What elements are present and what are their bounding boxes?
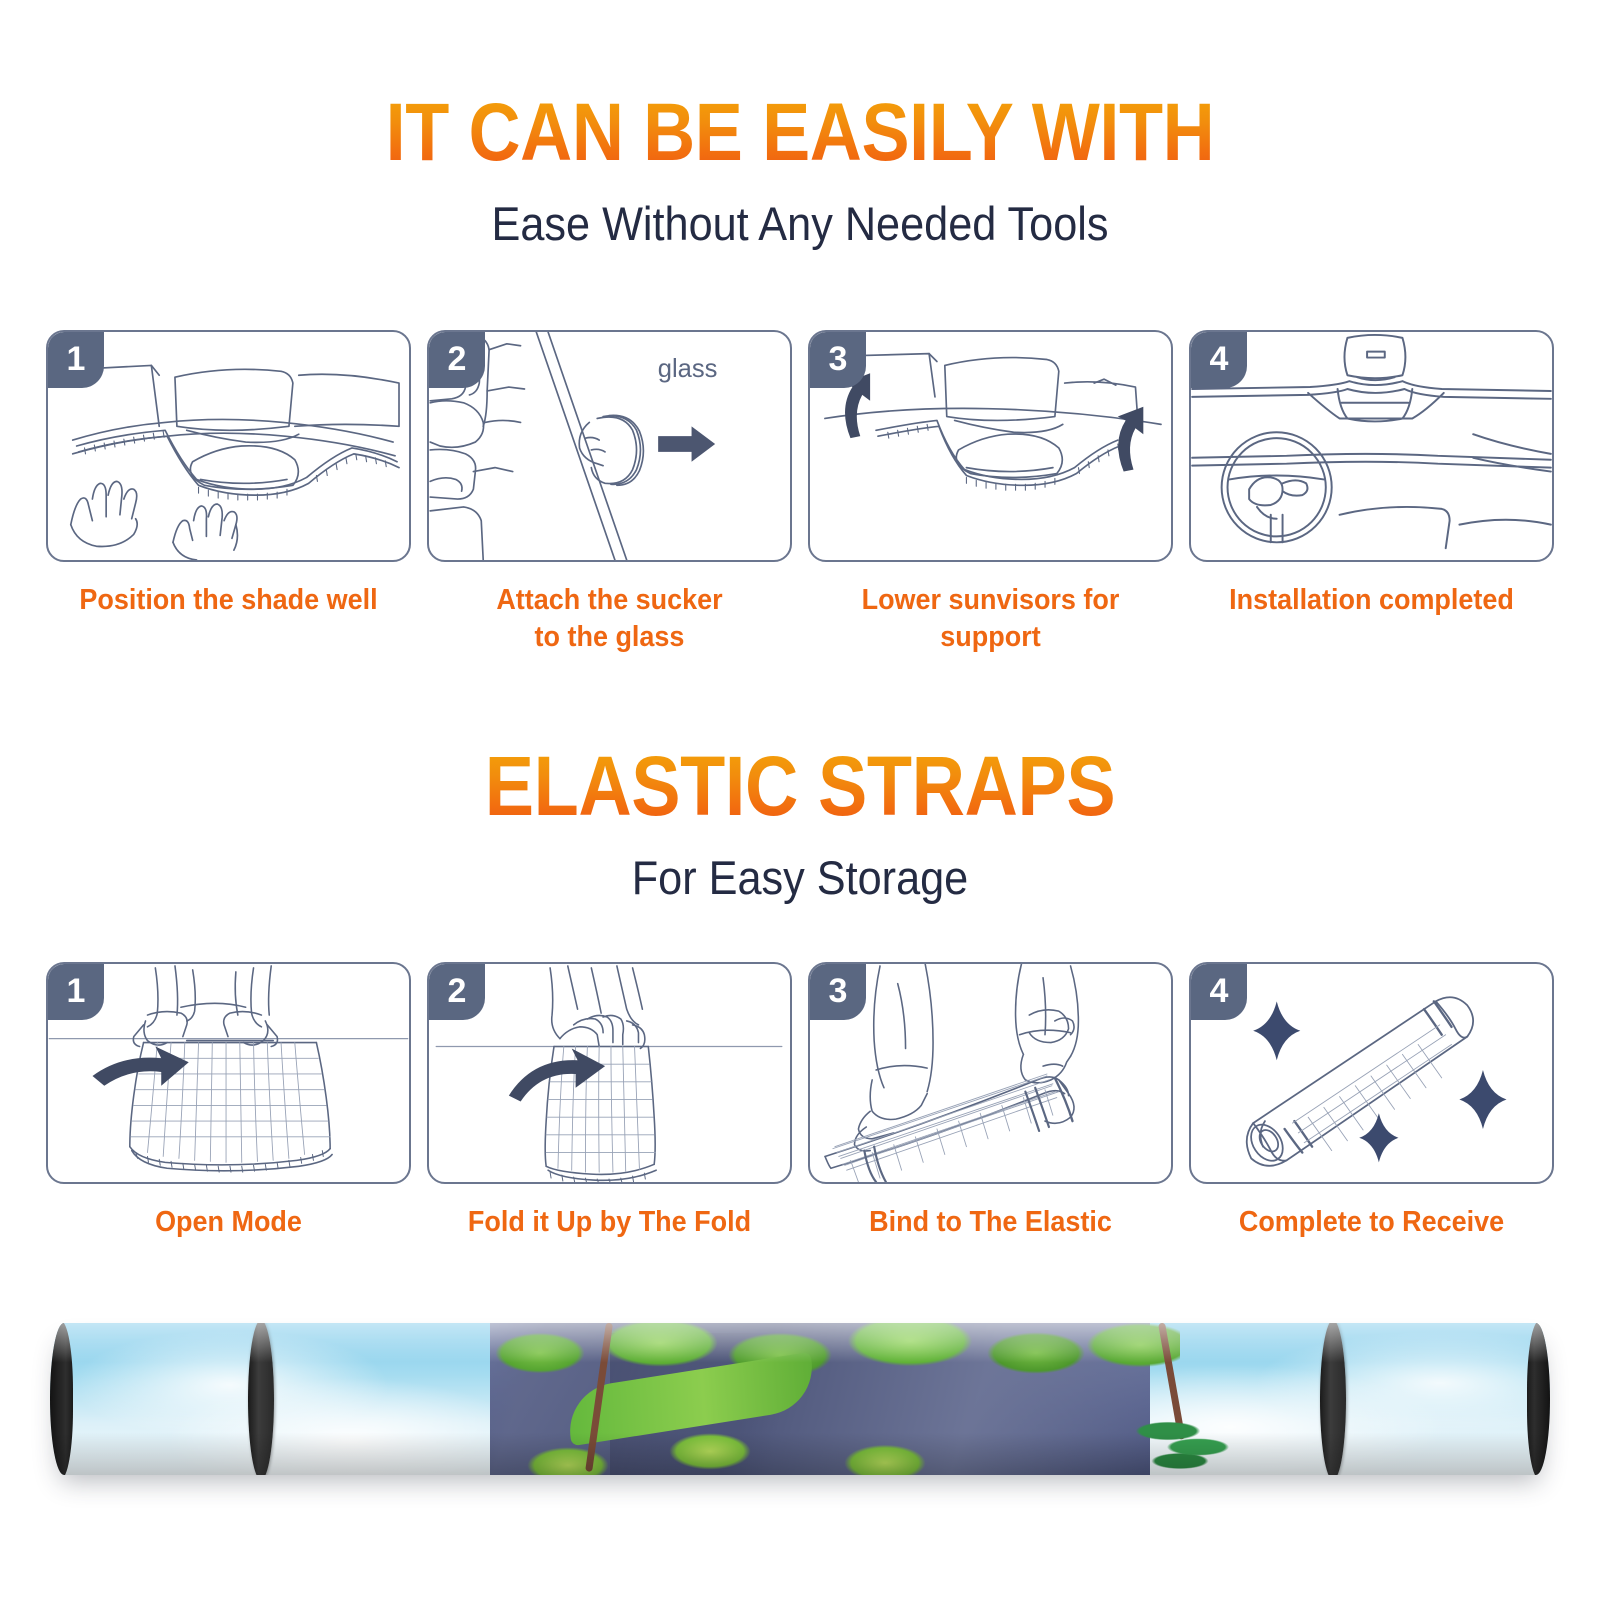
storage-step-2-caption: Fold it Up by The Fold: [440, 1204, 779, 1241]
storage-step-1[interactable]: 1 Open Mode: [46, 962, 411, 1241]
install-step-4-caption: Installation completed: [1202, 582, 1541, 619]
storage-step-2-badge: 2: [429, 964, 485, 1020]
fern-plant: [520, 1433, 616, 1475]
storage-step-4-badge: 4: [1191, 964, 1247, 1020]
storage-step-1-caption: Open Mode: [59, 1204, 398, 1241]
storage-step-4[interactable]: 4 Complete to Receive: [1189, 962, 1554, 1241]
install-step-3-badge: 3: [810, 332, 866, 388]
storage-step-1-panel: 1: [46, 962, 411, 1184]
fern-plant: [650, 1419, 770, 1473]
storage-step-4-caption: Complete to Receive: [1202, 1204, 1541, 1241]
arrow-right-icon: [658, 426, 715, 461]
rolled-sunshade-image: [50, 1323, 1550, 1475]
install-step-2-badge: 2: [429, 332, 485, 388]
tree-canopy: [480, 1323, 1180, 1391]
section-2-subhead: For Easy Storage: [64, 852, 1536, 904]
install-step-1-badge: 1: [48, 332, 104, 388]
storage-step-2-panel: 2: [427, 962, 792, 1184]
storage-step-3-panel: 3: [808, 962, 1173, 1184]
install-step-4-badge: 4: [1191, 332, 1247, 388]
curve-arrow-fold-icon: [509, 1048, 605, 1101]
install-step-2-panel: glass 2: [427, 330, 792, 562]
install-step-4[interactable]: 4 Installation completed: [1189, 330, 1554, 656]
elastic-strap: [248, 1323, 274, 1475]
install-step-1-panel: 1: [46, 330, 411, 562]
storage-step-3-caption: Bind to The Elastic: [821, 1204, 1160, 1241]
storage-step-2[interactable]: 2 Fold it Up by The Fold: [427, 962, 792, 1241]
install-steps-row: 1 Position the shade well: [46, 330, 1554, 656]
install-step-1-caption: Position the shade well: [59, 582, 398, 619]
glass-label: glass: [658, 355, 718, 383]
install-step-3-caption: Lower sunvisors for support: [821, 582, 1160, 656]
curve-arrow-up-right-icon: [1118, 407, 1144, 472]
storage-step-4-panel: 4: [1189, 962, 1554, 1184]
storage-steps-row: 1 Open Mode: [46, 962, 1554, 1241]
install-step-3-panel: 3: [808, 330, 1173, 562]
install-step-4-panel: 4: [1189, 330, 1554, 562]
palm-fronds: [1128, 1401, 1258, 1471]
product-photo: [50, 1305, 1550, 1505]
install-step-2-caption: Attach the sucker to the glass: [440, 582, 779, 656]
section-1-subhead: Ease Without Any Needed Tools: [64, 198, 1536, 250]
elastic-strap: [50, 1323, 73, 1475]
install-step-1[interactable]: 1 Position the shade well: [46, 330, 411, 656]
section-2-headline: ELASTIC STRAPS: [96, 744, 1504, 828]
install-step-2[interactable]: glass 2 Attach the sucker to the glass: [427, 330, 792, 656]
storage-step-3[interactable]: 3 Bind to The Elastic: [808, 962, 1173, 1241]
storage-step-1-badge: 1: [48, 964, 104, 1020]
elastic-strap: [1527, 1323, 1550, 1475]
storage-step-3-badge: 3: [810, 964, 866, 1020]
section-1-headline: IT CAN BE EASILY WITH: [96, 92, 1504, 174]
elastic-strap: [1320, 1323, 1346, 1475]
install-step-3[interactable]: 3 Lower sunvisors for support: [808, 330, 1173, 656]
product-infographic: IT CAN BE EASILY WITH Ease Without Any N…: [0, 0, 1600, 1600]
fern-plant: [810, 1427, 960, 1475]
